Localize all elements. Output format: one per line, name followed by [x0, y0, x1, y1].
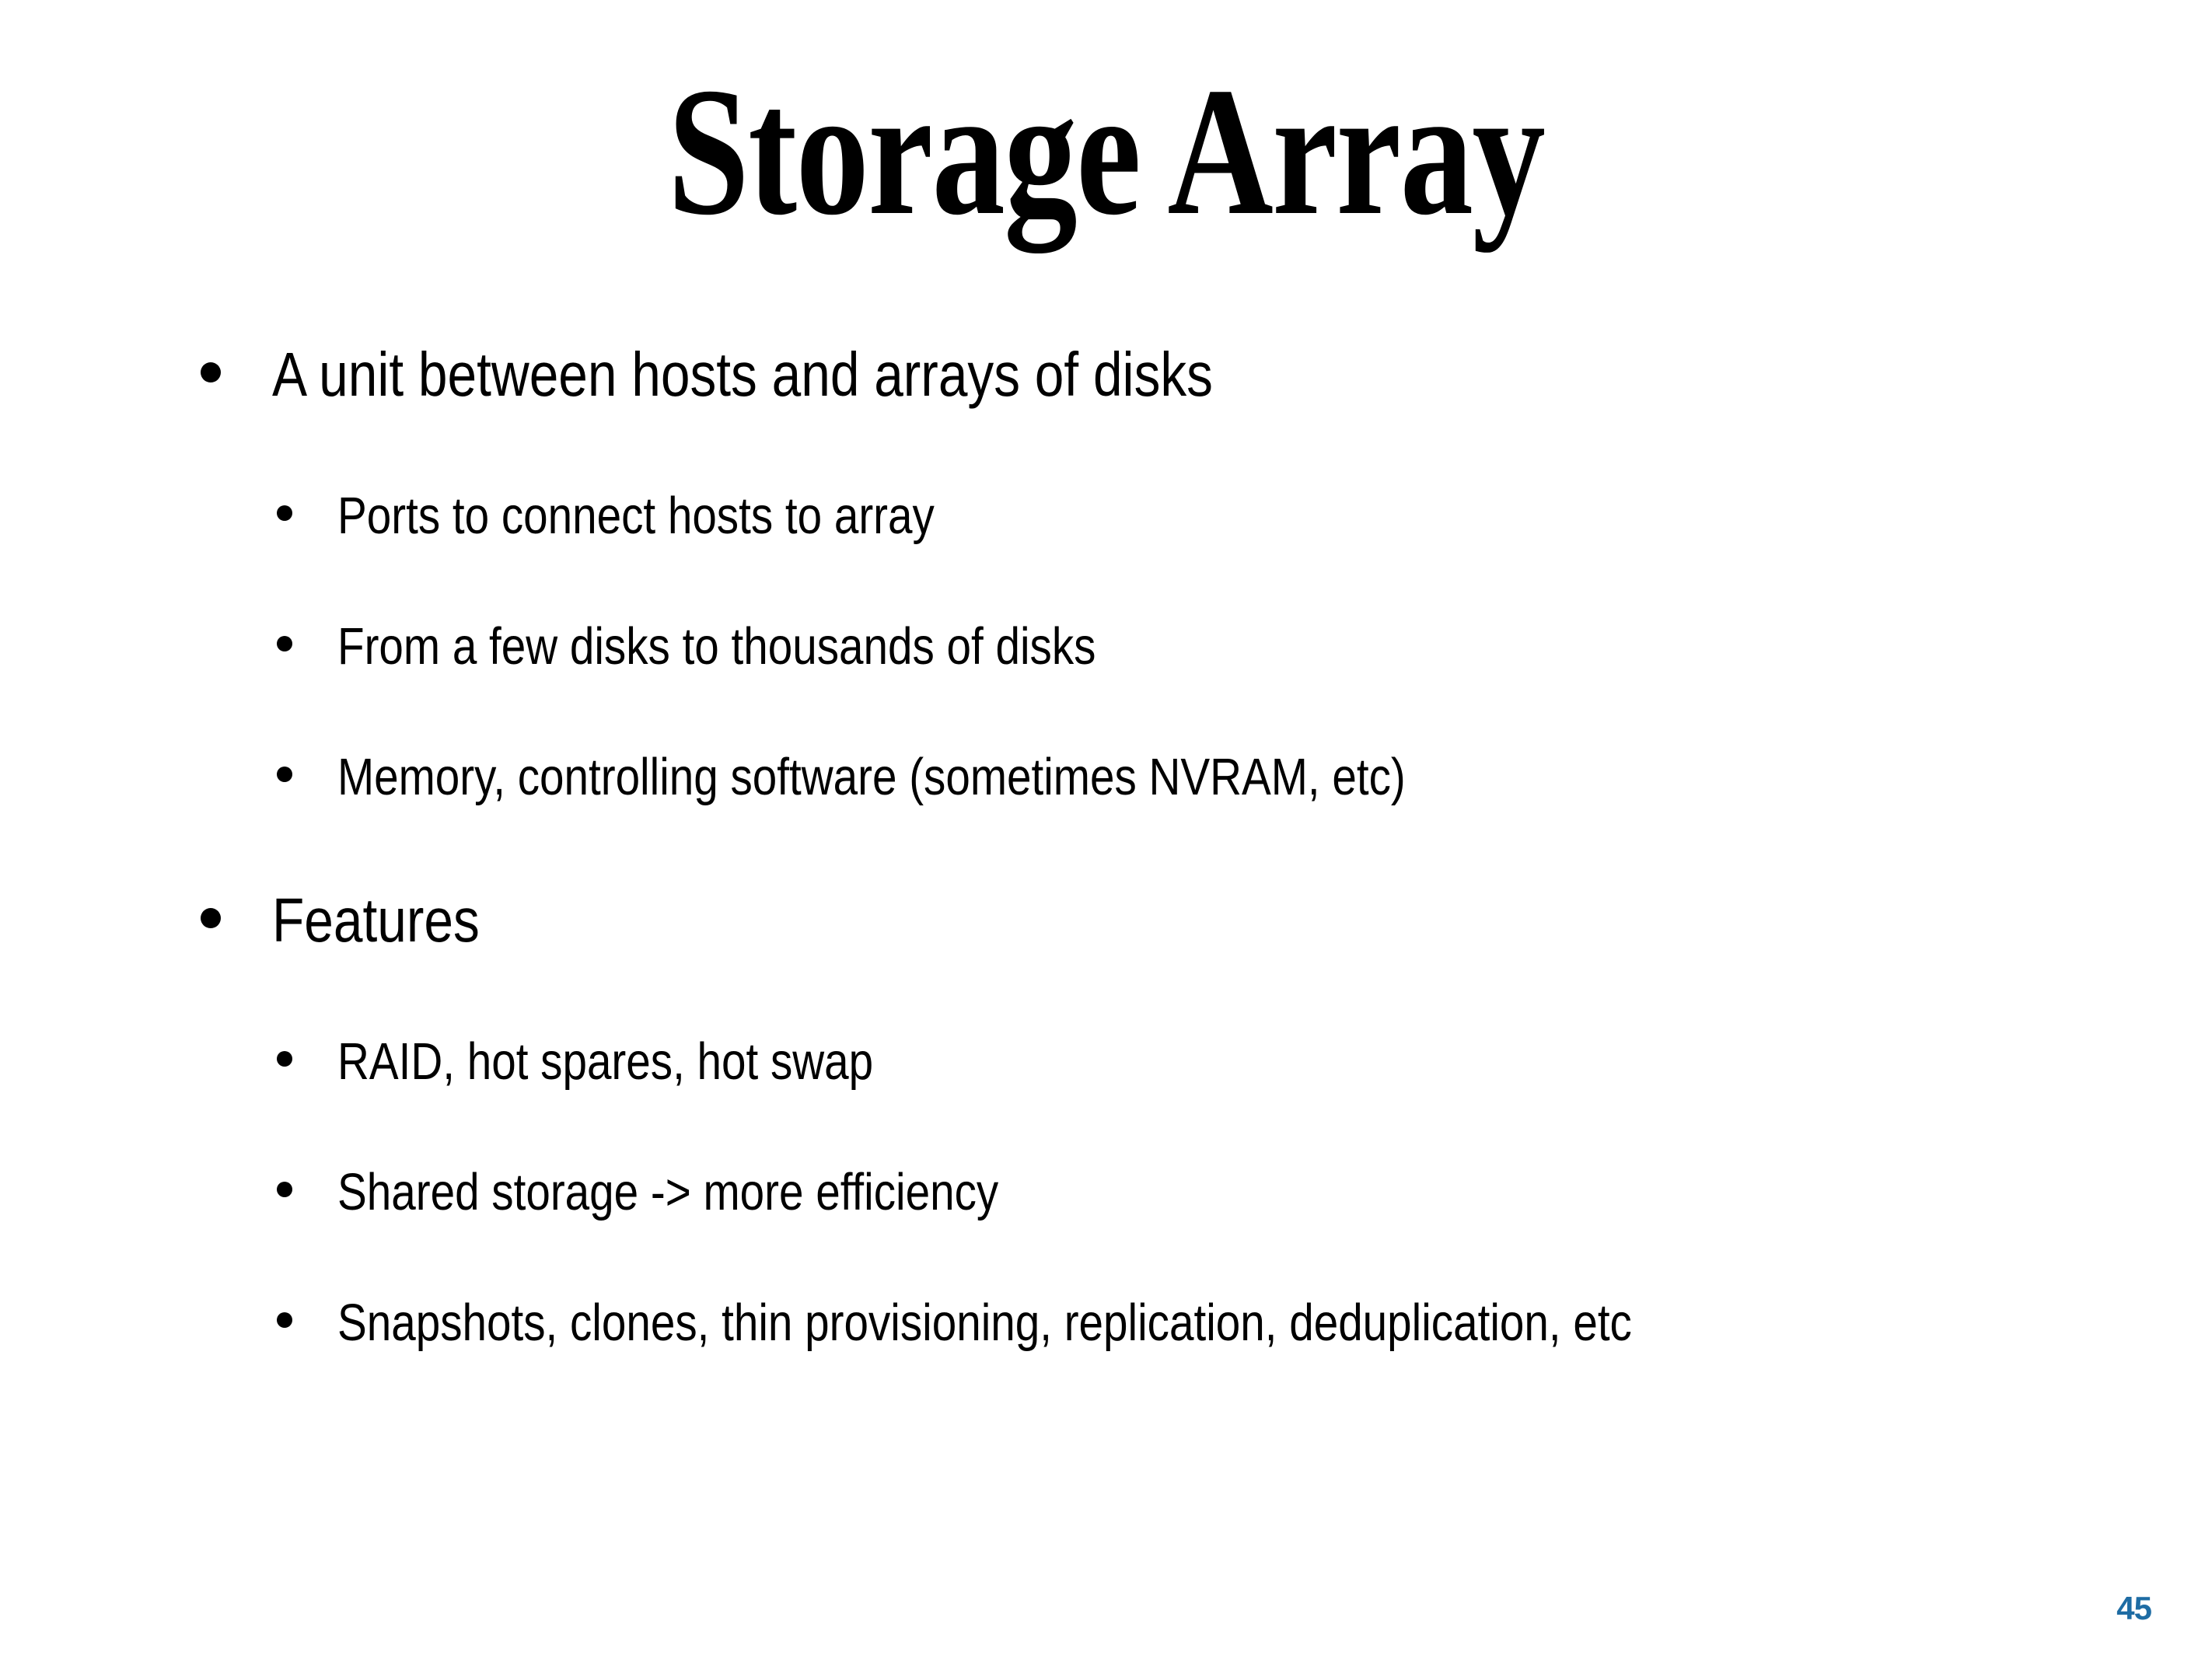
bullet-text: Memory, controlling software (sometimes …: [337, 743, 1868, 812]
bullet-text: Shared storage -> more efficiency: [337, 1158, 1868, 1227]
spacer: [0, 812, 2212, 880]
slide-body: A unit between hosts and arrays of disks…: [0, 334, 2212, 1357]
bullet-text: Ports to connect hosts to array: [337, 482, 1868, 550]
bullet-dot-icon: [277, 636, 292, 651]
bullet-item-level2: RAID, hot spares, hot swap: [0, 1028, 2212, 1096]
bullet-item-level2: From a few disks to thousands of disks: [0, 613, 2212, 681]
bullet-dot-icon: [277, 1312, 292, 1328]
presentation-slide: Storage Array A unit between hosts and a…: [0, 0, 2212, 1659]
slide-title: Storage Array: [222, 61, 1991, 244]
bullet-text: Snapshots, clones, thin provisioning, re…: [337, 1289, 1868, 1357]
bullet-dot-icon: [277, 505, 292, 521]
bullet-item-level2: Snapshots, clones, thin provisioning, re…: [0, 1289, 2212, 1357]
bullet-text: From a few disks to thousands of disks: [337, 613, 1868, 681]
spacer: [0, 961, 2212, 1028]
spacer: [0, 681, 2212, 743]
bullet-text: RAID, hot spares, hot swap: [337, 1028, 1868, 1096]
bullet-item-level2: Shared storage -> more efficiency: [0, 1158, 2212, 1227]
spacer: [0, 415, 2212, 482]
bullet-dot-icon: [277, 1182, 292, 1197]
page-number: 45: [2116, 1592, 2151, 1625]
bullet-dot-icon: [277, 1051, 292, 1067]
bullet-text: A unit between hosts and arrays of disks: [272, 334, 1849, 415]
bullet-item-level2: Ports to connect hosts to array: [0, 482, 2212, 550]
bullet-text: Features: [272, 880, 1849, 961]
bullet-dot-icon: [277, 767, 292, 782]
spacer: [0, 1227, 2212, 1289]
bullet-item-level1: Features: [0, 880, 2212, 961]
bullet-dot-icon: [201, 362, 221, 382]
spacer: [0, 1096, 2212, 1158]
bullet-item-level2: Memory, controlling software (sometimes …: [0, 743, 2212, 812]
spacer: [0, 550, 2212, 613]
bullet-dot-icon: [201, 908, 221, 928]
bullet-item-level1: A unit between hosts and arrays of disks: [0, 334, 2212, 415]
